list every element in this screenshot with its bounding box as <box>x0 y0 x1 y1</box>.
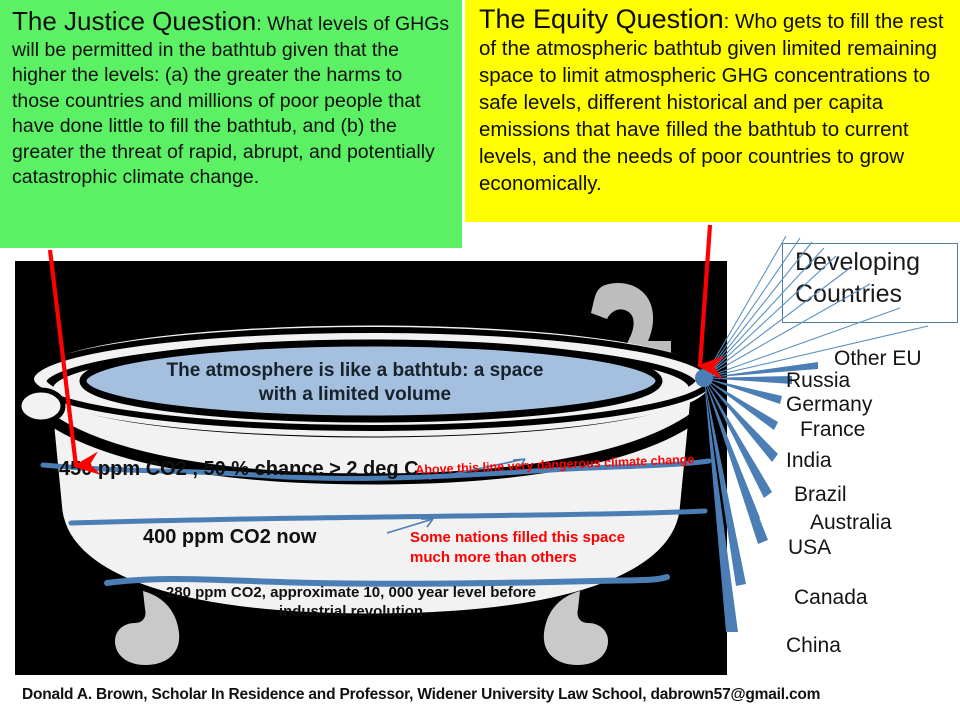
arrow-equity-to-hub <box>700 225 710 366</box>
red-annotation-arrows <box>0 0 960 720</box>
author-credit: Donald A. Brown, Scholar In Residence an… <box>22 686 942 704</box>
arrow-justice-to-450 <box>50 250 76 466</box>
